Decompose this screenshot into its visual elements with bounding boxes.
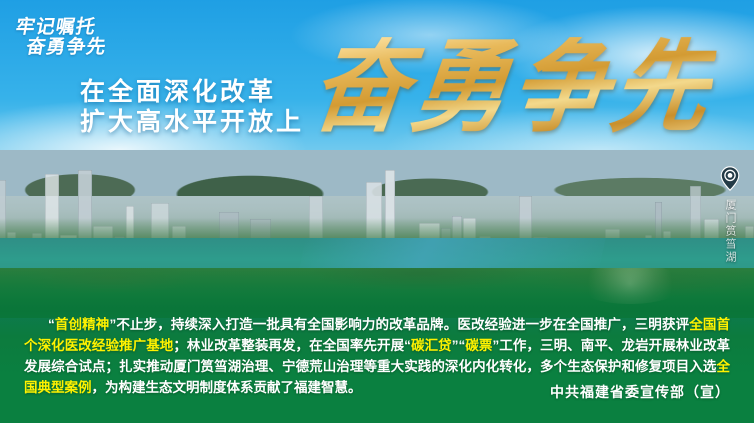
body-text-run: ”不止步，持续深入打造一批具有全国影响力的改革品牌。医改经验进一步在全国推广，三… [109,317,689,332]
campaign-logo: 牢记嘱托 奋勇争先 [10,18,111,58]
location-watermark: 厦门筼筜湖 [720,166,740,264]
body-text-run: ”“ [452,338,466,353]
headline-line2: 扩大高水平开放上 [80,108,304,138]
headline-line1: 在全面深化改革 [80,78,304,108]
location-label: 厦门筼筜湖 [722,199,738,264]
signature: 中共福建省委宣传部（宣） [550,382,730,402]
body-text-run: ；林业改革整装再发，在全国率先开展“ [173,338,411,353]
body-text-run: ，为构建生态文明制度体系贡献了福建智慧。 [92,380,362,395]
poster-root: 牢记嘱托 奋勇争先 在全面深化改革 扩大高水平开放上 奋勇争先 厦门筼筜湖 “首… [0,0,754,423]
body-highlight: 首创精神 [55,317,110,332]
campaign-logo-line2: 奋勇争先 [10,38,107,57]
body-text-run: “ [48,317,55,332]
headline: 在全面深化改革 扩大高水平开放上 [80,78,304,137]
body-highlight: 碳票 [465,338,492,353]
body-highlight: 碳汇贷 [411,338,452,353]
calligraphy-title: 奋勇争先 [306,37,718,139]
campaign-logo-line1: 牢记嘱托 [14,18,111,37]
map-pin-icon [720,166,740,196]
